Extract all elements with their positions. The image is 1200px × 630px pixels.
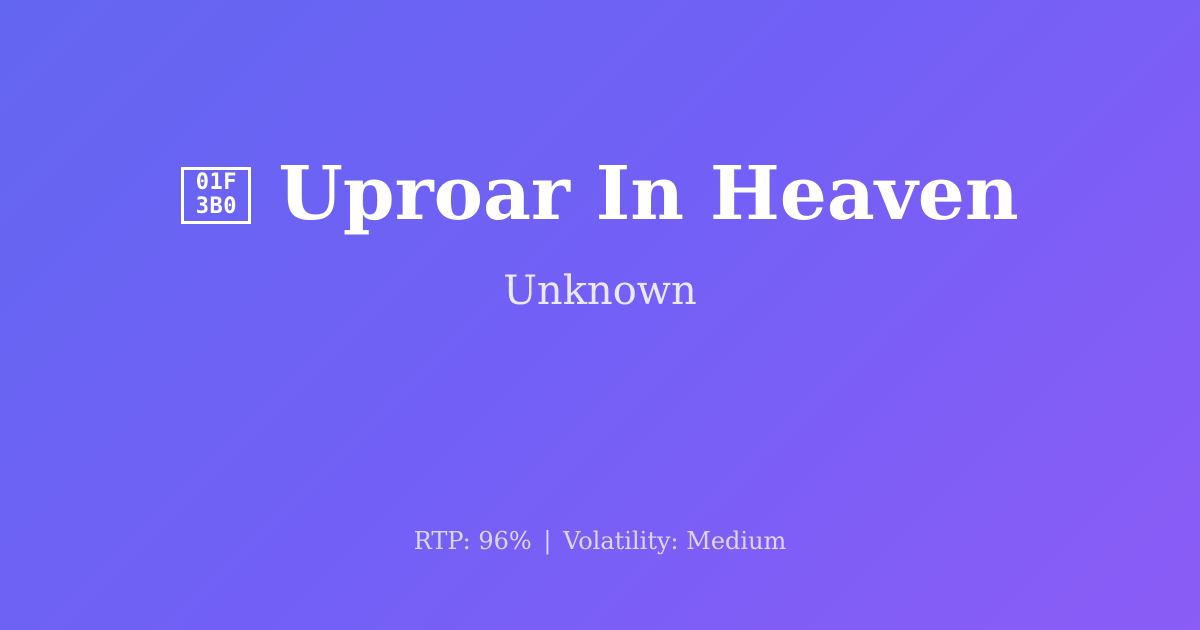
volatility-label: Volatility:	[563, 527, 679, 555]
slot-machine-icon-codepoint-lower: 3B0	[196, 195, 237, 219]
game-title: Uproar In Heaven	[278, 157, 1018, 232]
rtp-label: RTP:	[414, 527, 471, 555]
stats-separator: |	[539, 527, 555, 555]
game-provider: Unknown	[503, 269, 697, 313]
game-stats-line: RTP: 96% | Volatility: Medium	[0, 527, 1200, 556]
rtp-value: 96%	[478, 527, 531, 555]
title-row: 01F 3B0 Uproar In Heaven	[0, 157, 1200, 232]
slot-machine-icon: 01F 3B0	[181, 167, 251, 224]
slot-machine-icon-codepoint-upper: 01F	[196, 171, 237, 195]
volatility-value: Medium	[686, 527, 786, 555]
og-preview-card: 01F 3B0 Uproar In Heaven Unknown RTP: 96…	[0, 0, 1200, 630]
hero-block: 01F 3B0 Uproar In Heaven Unknown	[0, 0, 1200, 470]
